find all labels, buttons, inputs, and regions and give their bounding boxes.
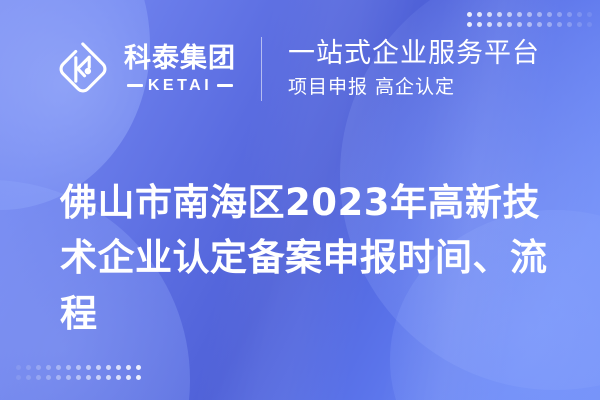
- dot: [76, 365, 81, 370]
- dot: [126, 365, 131, 370]
- dot: [66, 365, 71, 370]
- dot: [46, 365, 51, 370]
- dot: [106, 365, 111, 370]
- dot-grid-bottom-left: [16, 365, 141, 380]
- banner-headline: 佛山市南海区2023年高新技术企业认定备案申报时间、流程: [60, 175, 550, 342]
- wordmark-rule-left: [127, 84, 143, 87]
- brand-name-english-row: KETAI: [127, 78, 233, 94]
- brand-logo[interactable]: 科泰集团 KETAI: [52, 38, 236, 100]
- dot: [86, 375, 91, 380]
- dot: [66, 375, 71, 380]
- dot: [136, 365, 141, 370]
- dot: [126, 375, 131, 380]
- dot: [86, 365, 91, 370]
- header-divider: [261, 37, 262, 101]
- dot: [116, 375, 121, 380]
- dot: [56, 365, 61, 370]
- dot: [46, 375, 51, 380]
- dot: [106, 375, 111, 380]
- tagline-secondary: 项目申报 高企认定: [288, 76, 540, 99]
- dot: [26, 365, 31, 370]
- wordmark-rule-right: [217, 84, 233, 87]
- dot: [16, 365, 21, 370]
- brand-name-chinese: 科泰集团: [124, 45, 236, 72]
- promo-banner: 科泰集团 KETAI 一站式企业服务平台 项目申报 高企认定 佛山市南海区202…: [0, 0, 600, 400]
- dot: [26, 375, 31, 380]
- ketai-diamond-k-logo-icon: [52, 38, 114, 100]
- dot: [76, 375, 81, 380]
- dot: [96, 375, 101, 380]
- dot: [136, 375, 141, 380]
- brand-wordmark: 科泰集团 KETAI: [124, 45, 236, 94]
- tagline-primary: 一站式企业服务平台: [288, 39, 540, 69]
- dot: [56, 375, 61, 380]
- brand-name-english: KETAI: [148, 78, 212, 94]
- dot: [96, 365, 101, 370]
- dot: [36, 375, 41, 380]
- dot: [36, 365, 41, 370]
- dot: [116, 365, 121, 370]
- banner-header: 科泰集团 KETAI 一站式企业服务平台 项目申报 高企认定: [0, 0, 600, 138]
- dot-row: [16, 375, 141, 380]
- header-tagline: 一站式企业服务平台 项目申报 高企认定: [288, 39, 540, 99]
- dot: [16, 375, 21, 380]
- dot-row: [16, 365, 141, 370]
- logo-dot-icon: [85, 68, 91, 74]
